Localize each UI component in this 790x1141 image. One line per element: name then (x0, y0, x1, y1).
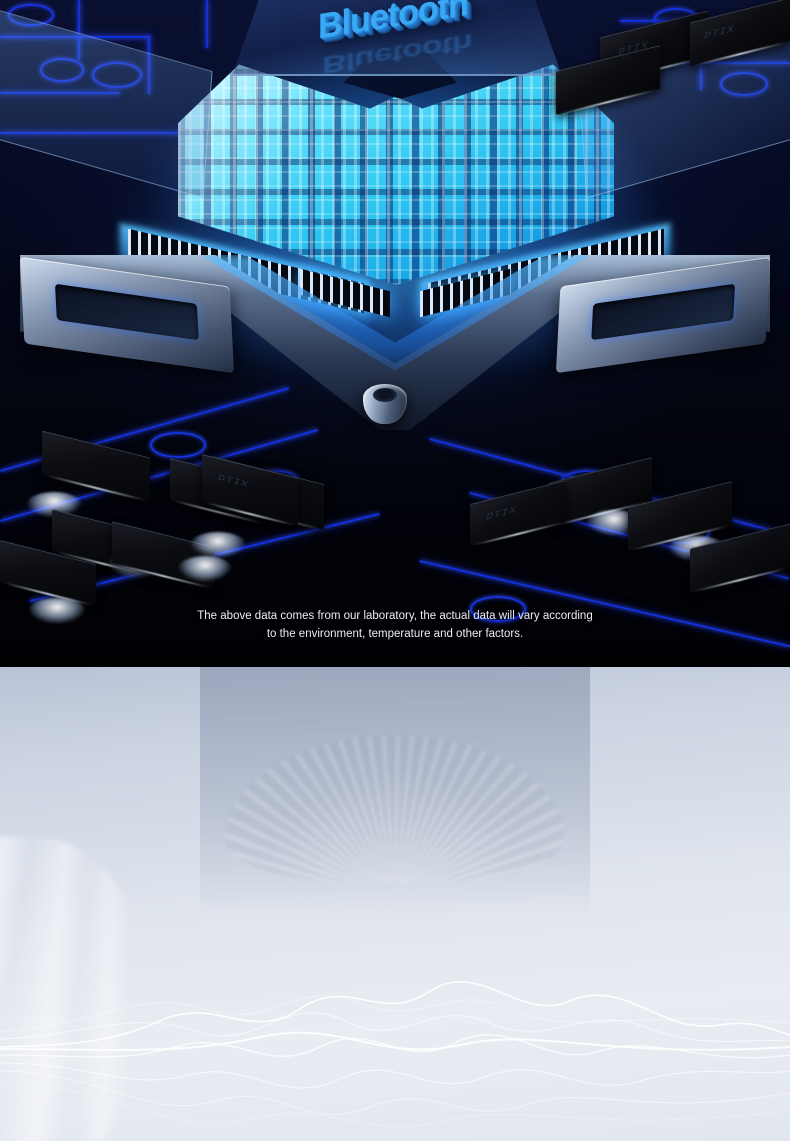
chip-marking: DTIX (484, 505, 518, 523)
disclaimer-line-1: The above data comes from our laboratory… (120, 608, 670, 626)
disclaimer-line-2: to the environment, temperature and othe… (120, 626, 670, 644)
live-sound-effects-section: Live sound effects Restore the original … (0, 667, 790, 1141)
sound-wave-graphic (0, 951, 790, 1141)
smd-highlight (178, 556, 232, 582)
chip-marking: DTIX (702, 24, 736, 42)
smd-highlight (190, 532, 246, 558)
bracket-slot (591, 284, 735, 341)
chip-marking: DTIX (216, 474, 250, 490)
bluetooth-chip-hero-section: Bluetooth Bluetooth DTIX (0, 0, 790, 667)
disclaimer-text: The above data comes from our laboratory… (0, 608, 790, 644)
bracket-slot (55, 284, 199, 341)
product-feature-page: Bluetooth Bluetooth DTIX (0, 0, 790, 1141)
pcb-via (150, 432, 206, 458)
glowing-chip-die (178, 40, 614, 285)
